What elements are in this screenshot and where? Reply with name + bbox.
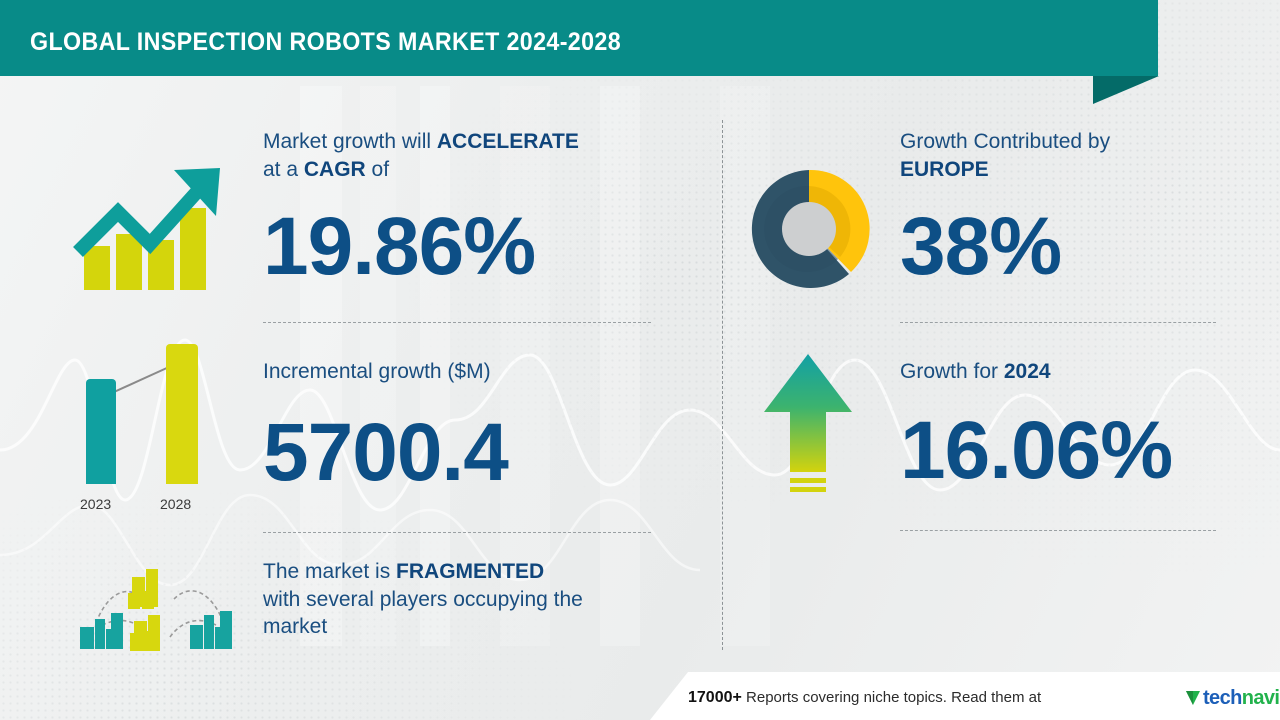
logo-text-tech: tech	[1203, 687, 1242, 710]
growth-bar-chart-arrow-icon	[70, 160, 230, 300]
cagr-line2-prefix: at a	[263, 158, 304, 181]
europe-value: 38%	[900, 206, 1061, 288]
year-growth-value: 16.06%	[900, 410, 1172, 492]
cagr-value: 19.86%	[263, 206, 535, 288]
left-divider-1	[263, 322, 651, 323]
reports-count: 17000+	[688, 689, 742, 706]
donut-chart-icon	[748, 168, 870, 290]
incremental-growth-value: 5700.4	[263, 412, 508, 494]
two-bar-comparison-icon: 2023 2028	[70, 340, 225, 520]
cagr-line2-bold: CAGR	[304, 158, 366, 181]
technavio-logo[interactable]: technavio™	[1185, 687, 1280, 710]
right-divider-2	[900, 530, 1216, 531]
city-buildings-network-icon	[78, 565, 243, 655]
up-arrow-icon	[762, 350, 854, 500]
cagr-line1-prefix: Market growth will	[263, 130, 437, 153]
europe-line1: Growth Contributed by	[900, 130, 1110, 153]
bar-2023	[86, 379, 116, 484]
bar-label-2023: 2023	[80, 496, 111, 512]
bar-2028	[166, 344, 198, 484]
fragmented-line1-prefix: The market is	[263, 560, 396, 583]
cagr-line2-suffix: of	[366, 158, 389, 181]
europe-line2-bold: EUROPE	[900, 158, 989, 181]
fragmented-line2: with several players occupying the	[263, 588, 583, 611]
content-area: Market growth will ACCELERATE at a CAGR …	[0, 0, 1280, 720]
bar-label-2028: 2028	[160, 496, 191, 512]
fragmented-line3: market	[263, 615, 327, 638]
green-triangle-flag-icon	[1185, 688, 1202, 709]
footer-tagline: Reports covering niche topics. Read them…	[746, 689, 1041, 706]
logo-text-navio: navio	[1242, 687, 1280, 710]
right-divider-1	[900, 322, 1216, 323]
year-growth-bold: 2024	[1004, 360, 1051, 383]
left-divider-2	[263, 532, 651, 533]
cagr-line1-bold: ACCELERATE	[437, 130, 579, 153]
footer-text: 17000+ Reports covering niche topics. Re…	[688, 689, 1041, 707]
column-divider	[722, 120, 723, 650]
fragmented-line1-bold: FRAGMENTED	[396, 560, 544, 583]
year-growth-prefix: Growth for	[900, 360, 1004, 383]
cagr-description: Market growth will ACCELERATE at a CAGR …	[263, 128, 683, 183]
incremental-growth-label: Incremental growth ($M)	[263, 358, 491, 386]
fragmentation-description: The market is FRAGMENTED with several pl…	[263, 558, 683, 641]
europe-description: Growth Contributed by EUROPE	[900, 128, 1230, 183]
year-growth-description: Growth for 2024	[900, 358, 1230, 386]
